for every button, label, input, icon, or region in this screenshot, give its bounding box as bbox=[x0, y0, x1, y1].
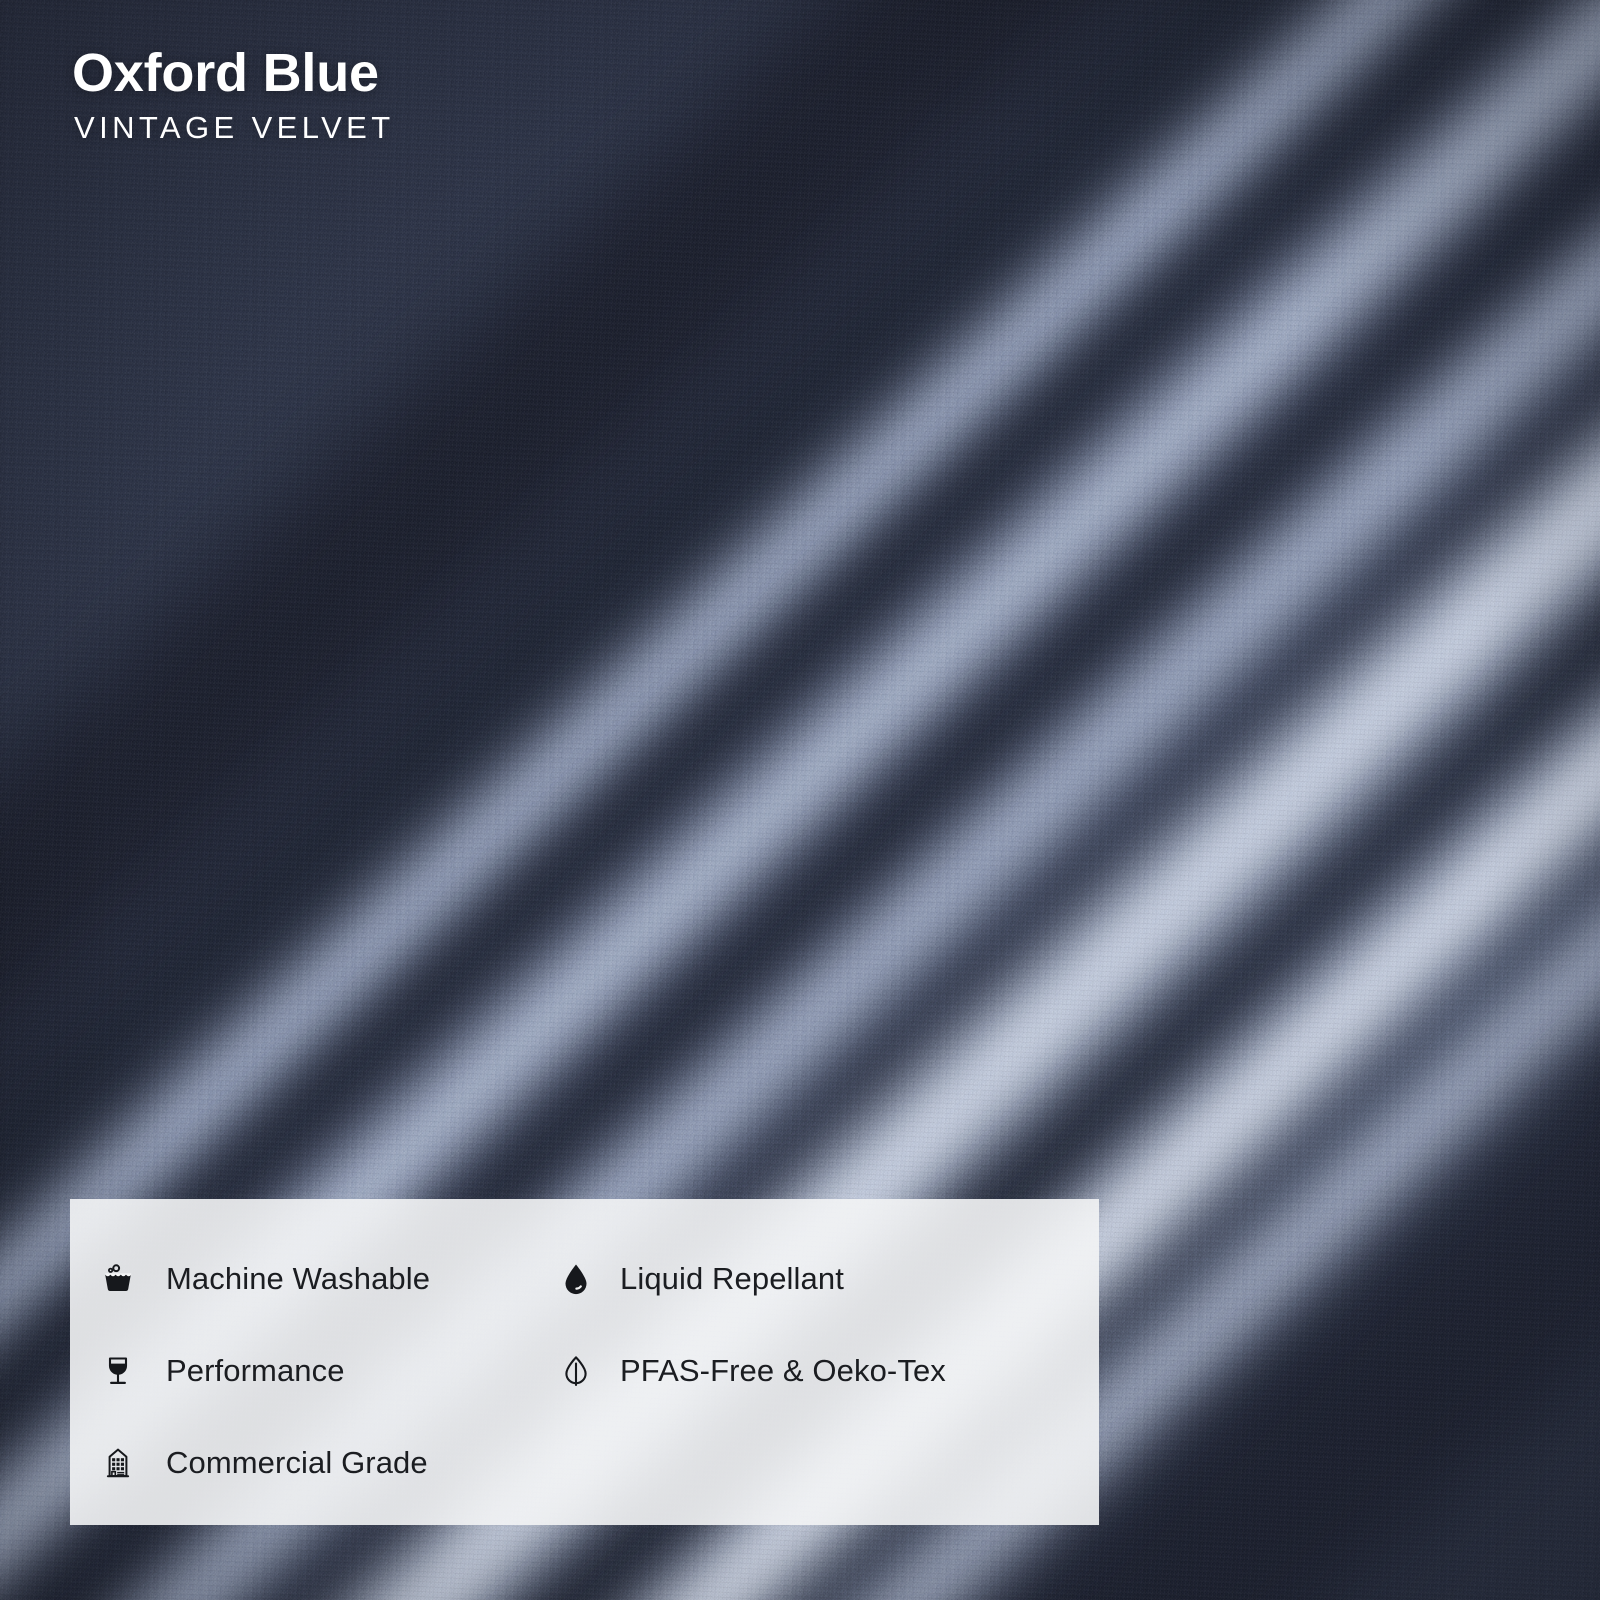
feature-liquid-repellant: Liquid Repellant bbox=[532, 1261, 1099, 1297]
feature-label: Machine Washable bbox=[166, 1261, 430, 1297]
feature-label: PFAS-Free & Oeko-Tex bbox=[620, 1353, 946, 1389]
leaf-icon bbox=[532, 1354, 620, 1388]
feature-machine-washable: Machine Washable bbox=[70, 1261, 532, 1297]
feature-panel: Machine Washable Liquid Repellant bbox=[70, 1199, 1099, 1525]
wash-tub-icon bbox=[70, 1262, 166, 1296]
feature-label: Performance bbox=[166, 1353, 345, 1389]
product-swatch-image: Oxford Blue VINTAGE VELVET Machine Washa… bbox=[0, 0, 1600, 1600]
wine-glass-icon bbox=[70, 1354, 166, 1388]
building-icon bbox=[70, 1446, 166, 1480]
water-drop-icon bbox=[532, 1262, 620, 1296]
feature-commercial-grade: Commercial Grade bbox=[70, 1445, 532, 1481]
feature-pfas-free-oeko-tex: PFAS-Free & Oeko-Tex bbox=[532, 1353, 1099, 1389]
feature-grid: Machine Washable Liquid Repellant bbox=[70, 1233, 1099, 1509]
product-name: Oxford Blue bbox=[72, 44, 395, 102]
feature-label: Liquid Repellant bbox=[620, 1261, 844, 1297]
product-title-block: Oxford Blue VINTAGE VELVET bbox=[72, 44, 395, 145]
feature-label: Commercial Grade bbox=[166, 1445, 428, 1481]
product-collection: VINTAGE VELVET bbox=[74, 111, 395, 145]
feature-performance: Performance bbox=[70, 1353, 532, 1389]
